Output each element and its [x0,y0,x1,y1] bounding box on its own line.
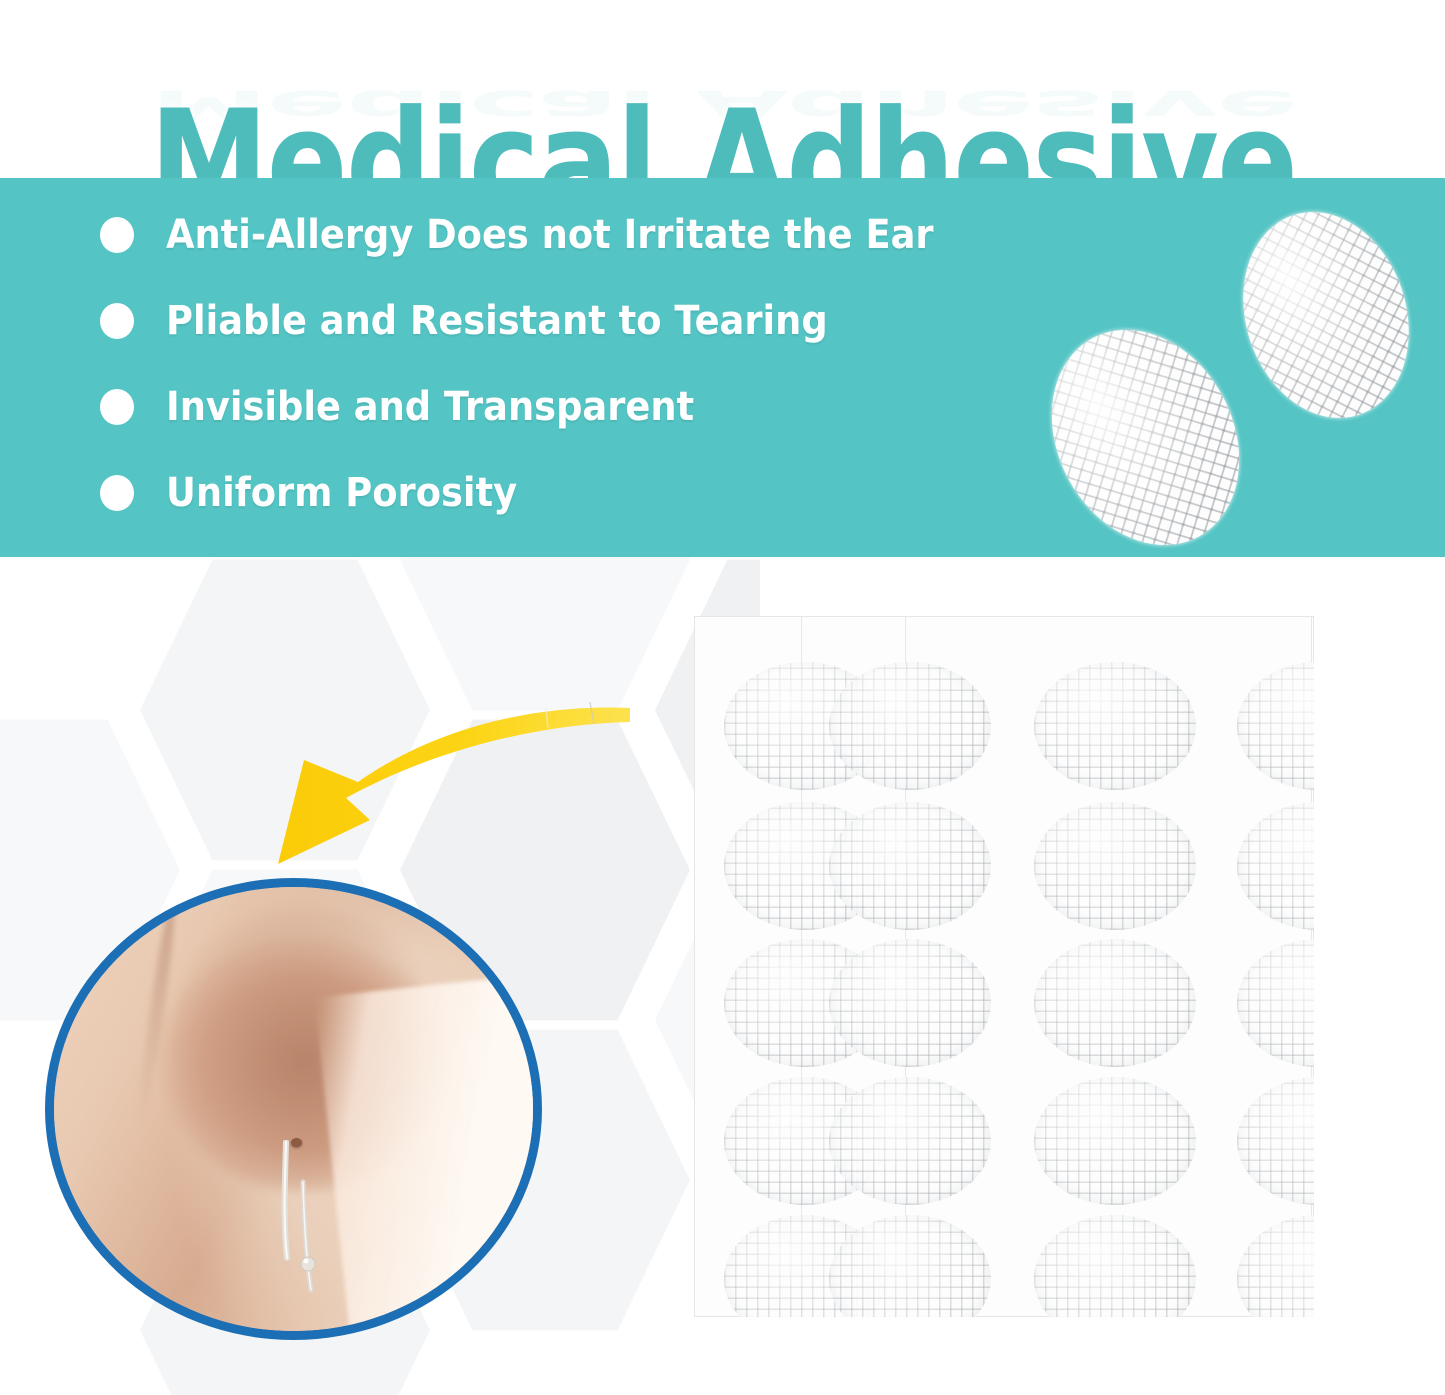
patch-oval [1237,1077,1399,1205]
list-item: Pliable and Resistant to Tearing [100,278,1100,364]
patch-texture [829,1077,991,1205]
patch-oval [1034,1215,1196,1343]
earlobe-closeup-photo [45,878,542,1340]
patch-texture [1034,1215,1196,1343]
patch-texture [829,939,991,1067]
feature-bullet-list: Anti-Allergy Does not Irritate the Ear P… [100,192,1100,536]
bullet-dot-icon [100,389,134,425]
patch-oval [1237,939,1399,1067]
neck-edge [314,974,542,1340]
feature-label: Pliable and Resistant to Tearing [166,299,828,343]
patch-texture [1034,662,1196,790]
patch-oval [829,662,991,790]
patch-oval [1034,662,1196,790]
patch-texture [1034,802,1196,930]
patch-texture [829,802,991,930]
list-item: Invisible and Transparent [100,364,1100,450]
patch-texture [1237,1215,1399,1343]
bullet-dot-icon [100,217,134,253]
patch-texture [1034,1077,1196,1205]
patch-oval [1034,802,1196,930]
patch-oval [829,1077,991,1205]
feature-label: Uniform Porosity [166,471,517,515]
bullet-dot-icon [100,303,134,339]
patch-texture [829,662,991,790]
feature-label: Anti-Allergy Does not Irritate the Ear [166,213,934,257]
patch-texture [829,1215,991,1343]
patch-texture [1034,939,1196,1067]
patch-oval [829,802,991,930]
patch-texture [1237,662,1399,790]
patch-texture [1237,1077,1399,1205]
patch-texture [1237,939,1399,1067]
adhesive-patch-sheet [694,616,1314,1317]
patch-oval [829,1215,991,1343]
curved-arrow-icon [238,678,658,888]
patch-oval [1034,939,1196,1067]
patch-oval [1034,1077,1196,1205]
patch-oval [1237,662,1399,790]
bullet-dot-icon [100,475,134,511]
patch-oval [1237,802,1399,930]
header: Medical Adhesive Medical Adhesive [0,0,1445,178]
earring-hook-icon [279,1140,339,1300]
patch-texture [1237,802,1399,930]
infographic-canvas: Medical Adhesive Medical Adhesive Anti-A… [0,0,1445,1395]
list-item: Anti-Allergy Does not Irritate the Ear [100,192,1100,278]
patch-oval [1237,1215,1399,1343]
list-item: Uniform Porosity [100,450,1100,536]
patch-oval [829,939,991,1067]
feature-label: Invisible and Transparent [166,385,694,429]
